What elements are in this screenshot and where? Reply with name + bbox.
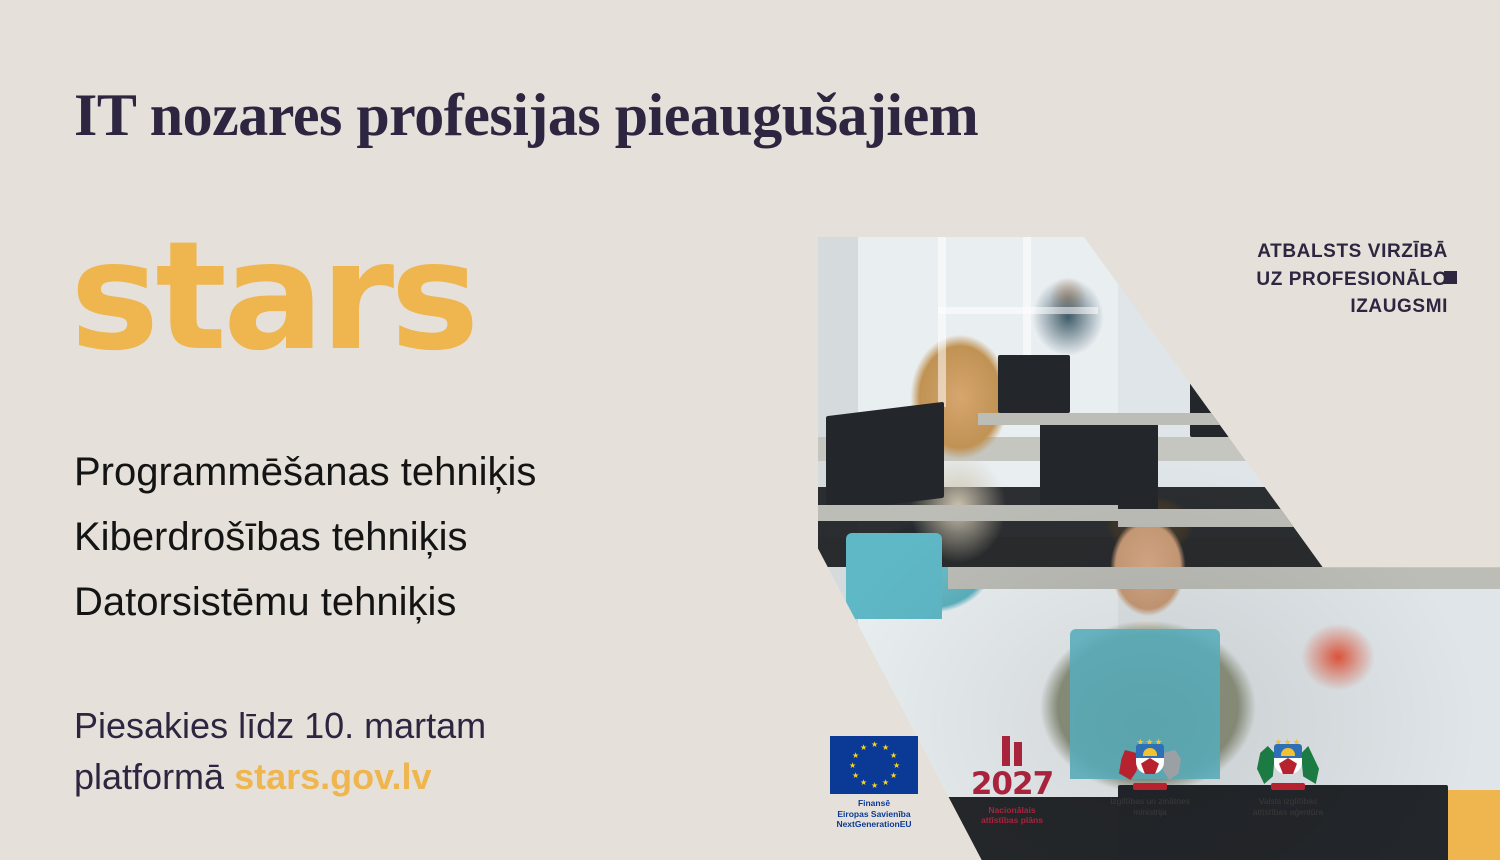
caption-line: ministrija	[1094, 807, 1206, 818]
cta-deadline-line: Piesakies līdz 10. martam	[74, 700, 486, 751]
latvian-coat-of-arms-icon: ★★★	[1119, 736, 1181, 792]
call-to-action: Piesakies līdz 10. martam platformā star…	[74, 700, 486, 802]
eu-nextgeneration-logo: ★ ★ ★ ★ ★ ★ ★ ★ ★ ★ ★ ★ Finansē Eiropas …	[818, 736, 930, 830]
caption-line: NextGenerationEU	[818, 819, 930, 830]
page-title: IT nozares profesijas pieaugušajiem	[74, 84, 978, 147]
caption-line: Izglītības un zinātnes	[1094, 796, 1206, 807]
ministry-of-education-and-science-logo: ★★★ Izglītības un zinātnes ministrija	[1094, 736, 1206, 817]
nap-mark: 2027	[962, 736, 1062, 801]
eu-flag-icon: ★ ★ ★ ★ ★ ★ ★ ★ ★ ★ ★ ★	[830, 736, 918, 794]
cta-prefix: Piesakies līdz	[74, 705, 304, 746]
square-bullet-icon	[1444, 271, 1457, 284]
tagline: ATBALSTS VIRZĪBĀ UZ PROFESIONĀLO IZAUGSM…	[1256, 238, 1448, 321]
tagline-line-1: ATBALSTS VIRZĪBĀ	[1256, 238, 1448, 266]
cta-platform-line: platformā stars.gov.lv	[74, 751, 486, 802]
list-item: Kiberdrošības tehniķis	[74, 505, 536, 570]
accent-corner-block	[1448, 790, 1500, 860]
list-item: Datorsistēmu tehniķis	[74, 570, 536, 635]
stars-wordmark: stars	[70, 222, 475, 372]
national-development-plan-2027-logo: 2027 Nacionālais attīstības plāns	[956, 736, 1068, 826]
latvian-wreath-coat-of-arms-icon: ★★★	[1257, 736, 1319, 792]
stars-gov-lv-link[interactable]: stars.gov.lv	[234, 756, 431, 797]
nap-bars-icon	[962, 736, 1062, 766]
nap-year: 2027	[962, 768, 1062, 801]
state-education-development-agency-logo: ★★★ Valsts izglītības attīstības aģentūr…	[1232, 736, 1344, 817]
funder-logo-strip: ★ ★ ★ ★ ★ ★ ★ ★ ★ ★ ★ ★ Finansē Eiropas …	[818, 736, 1344, 830]
logo-caption: Izglītības un zinātnes ministrija	[1094, 796, 1206, 817]
cta-platform-prefix: platformā	[74, 756, 234, 797]
logo-caption: Valsts izglītības attīstības aģentūra	[1232, 796, 1344, 817]
caption-line: attīstības aģentūra	[1232, 807, 1344, 818]
caption-line: Valsts izglītības	[1232, 796, 1344, 807]
list-item: Programmēšanas tehniķis	[74, 440, 536, 505]
tagline-line-3: IZAUGSMI	[1256, 293, 1448, 321]
caption-line: Finansē	[818, 798, 930, 809]
caption-line: attīstības plāns	[956, 815, 1068, 826]
promotional-poster: IT nozares profesijas pieaugušajiem star…	[0, 0, 1500, 860]
logo-caption: Nacionālais attīstības plāns	[956, 805, 1068, 826]
program-list: Programmēšanas tehniķis Kiberdrošības te…	[74, 440, 536, 634]
tagline-line-2: UZ PROFESIONĀLO	[1256, 266, 1448, 294]
cta-date: 10. martam	[304, 705, 486, 746]
caption-line: Nacionālais	[956, 805, 1068, 816]
caption-line: Eiropas Savienība	[818, 809, 930, 820]
logo-caption: Finansē Eiropas Savienība NextGeneration…	[818, 798, 930, 830]
